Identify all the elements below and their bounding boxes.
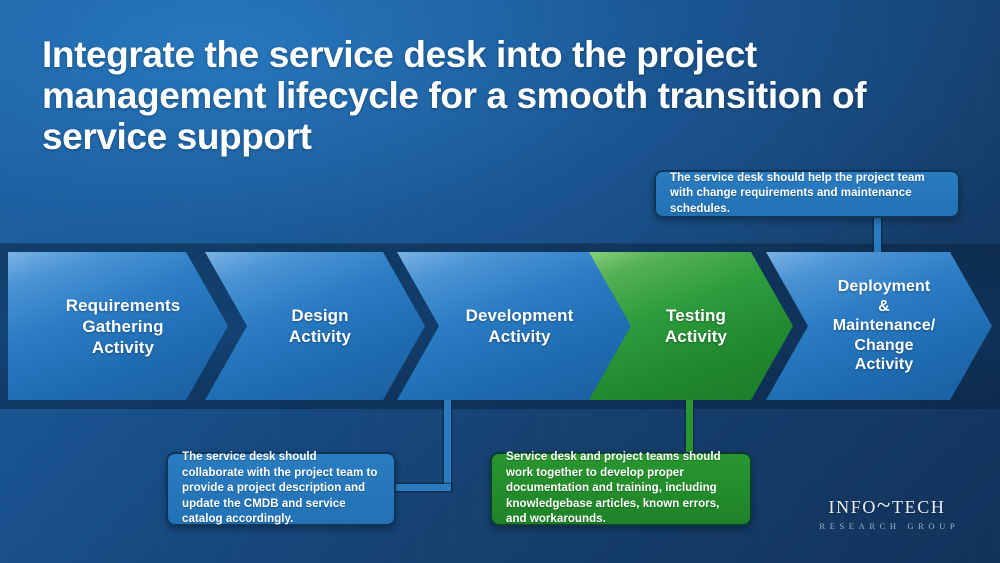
note-text: Service desk and project teams should wo…	[492, 450, 750, 528]
stage-label: Deployment & Maintenance/ Change Activit…	[807, 277, 952, 375]
stage-label: Development Activity	[440, 305, 590, 347]
connector-design-vertical	[444, 396, 451, 490]
stage-requirements-gathering[interactable]: Requirements Gathering Activity	[8, 252, 228, 400]
note-design[interactable]: The service desk should collaborate with…	[166, 452, 396, 526]
connector-testing-vertical	[686, 396, 693, 456]
stage-label: Design Activity	[263, 305, 367, 347]
note-text: The service desk should help the project…	[656, 171, 958, 218]
brand-logo-tagline: RESEARCH GROUP	[798, 520, 976, 532]
note-text: The service desk should collaborate with…	[168, 450, 394, 528]
brand-logo-name: Info~Tech	[798, 492, 976, 519]
slide-canvas: Integrate the service desk into the proj…	[0, 0, 1000, 563]
page-title: Integrate the service desk into the proj…	[42, 34, 962, 157]
brand-logo: Info~Tech RESEARCH GROUP	[798, 492, 976, 532]
connector-design-horizontal	[392, 484, 451, 491]
stage-label: Requirements Gathering Activity	[40, 295, 197, 358]
note-deployment[interactable]: The service desk should help the project…	[654, 170, 960, 218]
stage-label: Testing Activity	[639, 305, 743, 347]
note-testing[interactable]: Service desk and project teams should wo…	[490, 452, 752, 526]
